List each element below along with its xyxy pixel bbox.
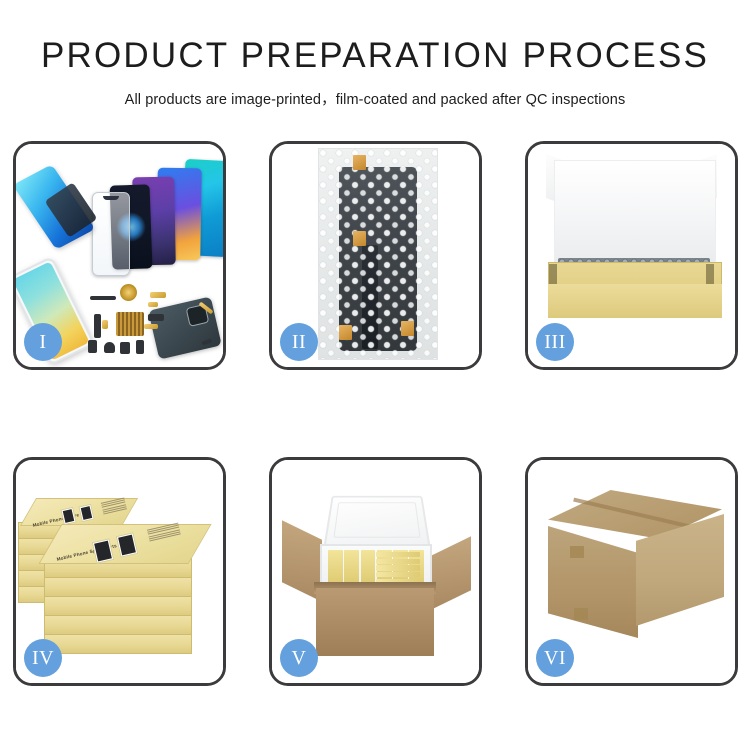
packed-retail-boxes <box>328 550 424 586</box>
tape-tab-top <box>353 155 366 170</box>
part-gold-connector <box>150 292 166 298</box>
tape-tab-bottom-right <box>401 321 414 336</box>
tape-tab-middle <box>353 231 366 246</box>
process-step-3: III <box>525 141 738 370</box>
step-2-image: II <box>272 144 479 367</box>
tape-tab-bottom-left <box>339 325 352 340</box>
step-4-image: Mobile Phone Spare Parts Mobile Phone Sp… <box>16 460 223 683</box>
step-5-image: V <box>272 460 479 683</box>
step-badge-5: V <box>280 639 318 677</box>
part-vibration-motor <box>120 284 137 301</box>
bubble-texture-overlay <box>319 149 437 359</box>
part-gold-connector-small <box>148 302 158 307</box>
process-step-6: VI <box>525 457 738 686</box>
part-screw-plate <box>102 320 108 329</box>
stacked-box-front-5 <box>44 634 192 654</box>
page-subtitle: All products are image-printed，film-coat… <box>0 88 750 109</box>
part-flex-cable-left <box>94 314 101 338</box>
part-gold-flex <box>144 324 158 329</box>
kraft-box-front <box>548 284 722 318</box>
process-step-4: Mobile Phone Spare Parts Mobile Phone Sp… <box>13 457 226 686</box>
step-3-image: III <box>528 144 735 367</box>
page-header: PRODUCT PREPARATION PROCESS All products… <box>0 0 750 109</box>
box-corner-right <box>706 264 714 284</box>
step-1-image: I <box>16 144 223 367</box>
step-badge-4: IV <box>24 639 62 677</box>
part-antenna-flex <box>148 314 164 321</box>
stacked-box-front-2 <box>44 577 192 597</box>
packed-retail-boxes-horizontal <box>376 552 420 584</box>
step-badge-6: VI <box>536 639 574 677</box>
carton-tape-upper <box>570 546 584 558</box>
process-step-1: I <box>13 141 226 370</box>
process-step-grid: I II <box>13 141 737 686</box>
page-title: PRODUCT PREPARATION PROCESS <box>0 38 750 75</box>
step-badge-2: II <box>280 323 318 361</box>
carton-tape-lower <box>574 608 588 620</box>
step-badge-3: III <box>536 323 574 361</box>
part-sim-tray <box>88 340 97 353</box>
step-6-image: VI <box>528 460 735 683</box>
stacked-box-front-3 <box>44 596 192 616</box>
bubble-wrap-bag <box>318 148 438 360</box>
part-camera-module <box>104 342 115 353</box>
stacked-box-front-4 <box>44 615 192 635</box>
part-logic-board <box>116 312 144 336</box>
box-lid-back-panel <box>554 160 716 268</box>
process-step-2: II <box>269 141 482 370</box>
part-speaker-strip <box>90 296 116 300</box>
carton-body <box>316 588 434 656</box>
process-step-5: V <box>269 457 482 686</box>
foam-box-lid <box>323 496 430 546</box>
step-badge-1: I <box>24 323 62 361</box>
part-button-flex <box>136 340 144 354</box>
part-earpiece <box>120 342 130 354</box>
product-preparation-page: PRODUCT PREPARATION PROCESS All products… <box>0 0 750 750</box>
box-corner-left <box>549 264 557 284</box>
screen-protector-glass <box>92 192 130 276</box>
